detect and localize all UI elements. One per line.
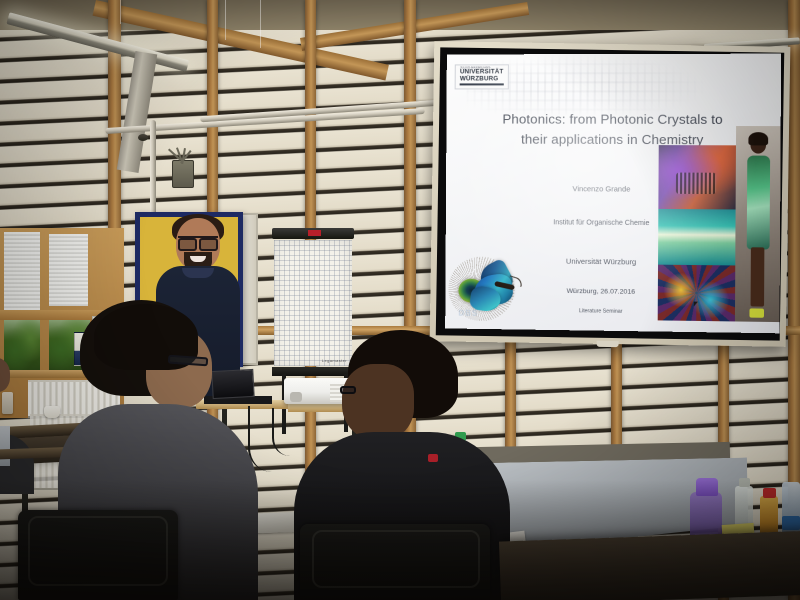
- glass-water-bottle-cap: [739, 478, 750, 487]
- model-iridescent-dress: [746, 156, 770, 250]
- university-logo-line2: WÜRZBURG: [460, 76, 504, 82]
- light-hanger-3: [260, 0, 261, 48]
- audience-table-left: [0, 426, 10, 466]
- juice-bottle-cap: [763, 488, 776, 498]
- attendee-front-right-glasses: [340, 386, 356, 394]
- flipchart-brand-logo-icon: [308, 230, 321, 236]
- attendee-front-right-head: [342, 364, 414, 440]
- presenter-collar: [182, 268, 214, 278]
- attendee-front-right-logo-icon: [428, 454, 438, 462]
- chair-left-backrest: [28, 516, 168, 586]
- wall-speaker: [138, 134, 148, 141]
- university-logo: JULIUS-MAXIMILIANS- UNIVERSITÄT WÜRZBURG: [455, 64, 509, 89]
- mouse-cursor-icon: [693, 302, 697, 307]
- projection-screen: JULIUS-MAXIMILIANS- UNIVERSITÄT WÜRZBURG…: [430, 41, 791, 347]
- slide-footer-logo: DBS: [458, 309, 478, 318]
- presenter-glasses: [178, 236, 218, 245]
- presentation-slide: JULIUS-MAXIMILIANS- UNIVERSITÄT WÜRZBURG…: [445, 54, 781, 334]
- collage-image-teal-fabric: [658, 208, 736, 265]
- chair-right-backrest: [312, 530, 480, 588]
- collage-image-iridescent-car: [658, 146, 736, 210]
- window-blind-upper-left: [4, 232, 40, 310]
- purple-sports-bottle-cap: [696, 478, 718, 496]
- slide-title-line1: Photonics: from Photonic Crystals to: [459, 109, 767, 130]
- light-hanger-1: [120, 0, 121, 24]
- window-blind-upper-right: [48, 234, 88, 306]
- flipchart-header-bar: [272, 228, 354, 239]
- lecture-room-photo: Legamaster JULIUS-MAXIMILIANS- UNIVERSIT…: [0, 0, 800, 600]
- slide-image-collage: [658, 146, 737, 322]
- collage-image-structural-color-mosaic: [658, 264, 736, 321]
- model-hair: [749, 132, 769, 146]
- light-hanger-2: [225, 0, 226, 40]
- model-shoes: [749, 308, 764, 318]
- model-legs: [750, 247, 764, 306]
- attendee-far-left-head: [0, 358, 10, 392]
- screen-pull-tab: [597, 341, 619, 347]
- cable-bundle-2: [272, 408, 290, 456]
- university-logo-bar: [460, 83, 504, 85]
- foreground-table-edge: [499, 530, 800, 600]
- mineral-water-bottle-label: [782, 516, 800, 530]
- attendee-far-left: [0, 358, 34, 488]
- slide-image-fashion-model: [735, 126, 780, 322]
